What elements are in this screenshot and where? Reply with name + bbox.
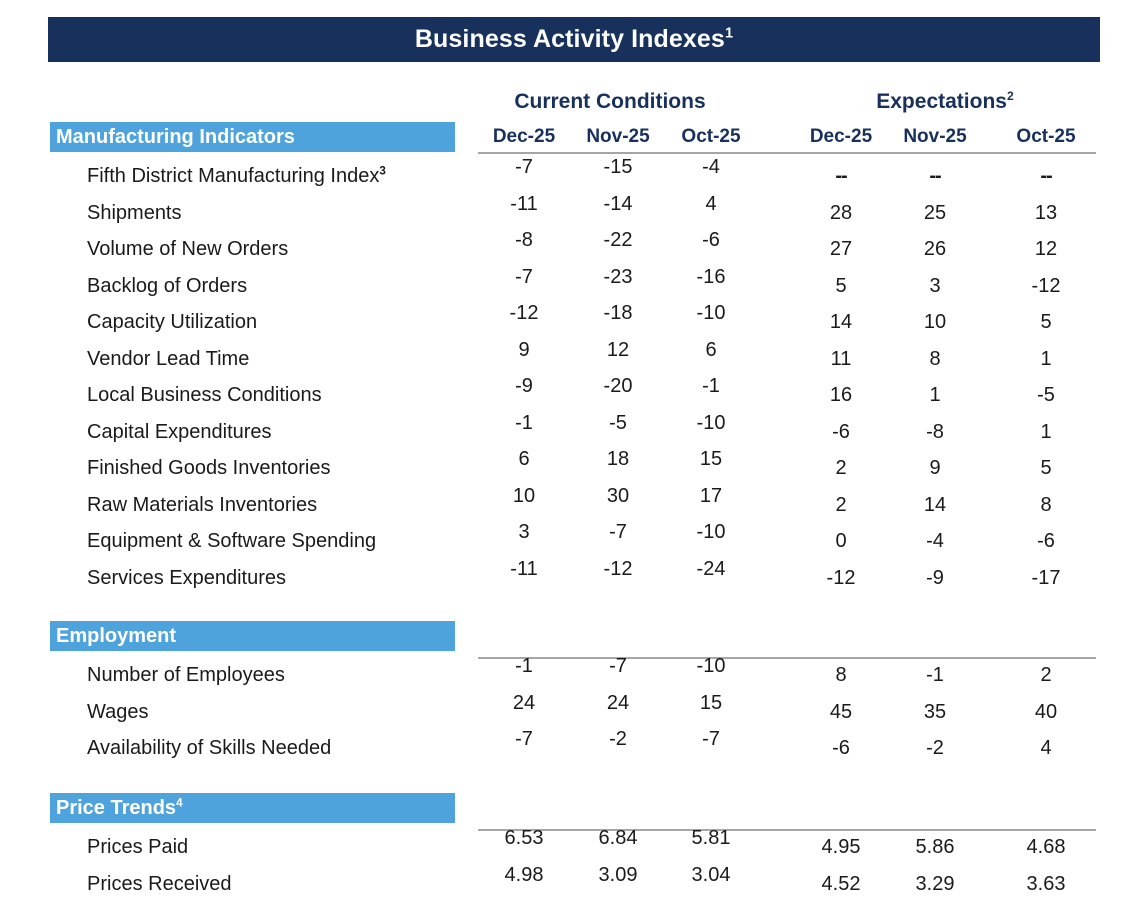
table-cell: 2 [795, 450, 887, 486]
row-label-text: Equipment & Software Spending [87, 530, 376, 552]
no-data-dash: -- [835, 165, 846, 187]
table-cell: -24 [665, 551, 757, 587]
table-cell: 5 [1000, 450, 1092, 486]
table-cell: 6.84 [572, 820, 664, 856]
row-label: Capital Expenditures [87, 414, 272, 450]
row-label: Backlog of Orders [87, 268, 247, 304]
row-label: Finished Goods Inventories [87, 450, 330, 486]
table-cell: 28 [795, 195, 887, 231]
table-cell: 8 [795, 657, 887, 693]
table-cell: 4.68 [1000, 829, 1092, 865]
report-page: Business Activity Indexes1 Current Condi… [0, 0, 1144, 918]
table-cell: 35 [889, 694, 981, 730]
table-cell: 2 [795, 487, 887, 523]
table-cell: -- [795, 158, 887, 194]
table-row: Services Expenditures-11-12-24-12-9-17 [0, 560, 1144, 596]
table-cell: 8 [889, 341, 981, 377]
row-label-text: Finished Goods Inventories [87, 457, 330, 479]
table-cell: -7 [665, 721, 757, 757]
table-cell: -7 [478, 259, 570, 295]
row-label: Availability of Skills Needed [87, 730, 331, 766]
table-cell: 10 [889, 304, 981, 340]
table-cell: -11 [478, 551, 570, 587]
row-label-text: Backlog of Orders [87, 275, 247, 297]
table-cell: -- [889, 158, 981, 194]
page-title: Business Activity Indexes1 [415, 25, 733, 54]
table-cell: -10 [665, 648, 757, 684]
table-cell: 4.98 [478, 857, 570, 893]
table-cell: 4.52 [795, 866, 887, 902]
row-label-text: Availability of Skills Needed [87, 737, 331, 759]
group-header-expectations-label: Expectations [876, 90, 1007, 113]
table-cell: -8 [889, 414, 981, 450]
table-cell: 3.04 [665, 857, 757, 893]
section-label-manufacturing-indicators: Manufacturing Indicators [50, 126, 295, 149]
section-bar-price-trends: Price Trends4 [50, 793, 455, 823]
table-cell: -10 [665, 514, 757, 550]
column-header-expect-nov: Nov-25 [889, 126, 981, 148]
table-cell: -12 [795, 560, 887, 596]
column-header-expect-dec: Dec-25 [795, 126, 887, 148]
table-cell: -22 [572, 222, 664, 258]
table-cell: 4.95 [795, 829, 887, 865]
row-label-text: Prices Received [87, 873, 232, 895]
row-label-text: Raw Materials Inventories [87, 494, 317, 516]
table-cell: -6 [1000, 523, 1092, 559]
table-cell: 0 [795, 523, 887, 559]
table-cell: -1 [889, 657, 981, 693]
row-label-text: Volume of New Orders [87, 238, 288, 260]
table-cell: 5 [1000, 304, 1092, 340]
table-cell: 2 [1000, 657, 1092, 693]
table-cell: 8 [1000, 487, 1092, 523]
table-cell: -20 [572, 368, 664, 404]
row-label-text: Capacity Utilization [87, 311, 257, 333]
row-label: Number of Employees [87, 657, 285, 693]
table-cell: -12 [572, 551, 664, 587]
no-data-dash: -- [929, 165, 940, 187]
row-label: Services Expenditures [87, 560, 286, 596]
table-cell: -5 [1000, 377, 1092, 413]
table-cell: 1 [1000, 341, 1092, 377]
table-row: Prices Received4.983.093.044.523.293.63 [0, 866, 1144, 902]
table-cell: 14 [795, 304, 887, 340]
section-title-manufacturing: Manufacturing Indicators [56, 126, 295, 148]
table-cell: -2 [572, 721, 664, 757]
table-cell: 16 [795, 377, 887, 413]
table-cell: -4 [889, 523, 981, 559]
title-banner: Business Activity Indexes1 [48, 17, 1100, 62]
section-title-price-trends: Price Trends [56, 797, 176, 819]
table-cell: 6 [665, 332, 757, 368]
page-title-text: Business Activity Indexes [415, 25, 725, 53]
table-cell: -12 [478, 295, 570, 331]
table-cell: 30 [572, 478, 664, 514]
table-cell: 11 [795, 341, 887, 377]
table-cell: 3 [478, 514, 570, 550]
column-header-current-nov: Nov-25 [572, 126, 664, 148]
table-cell: 12 [572, 332, 664, 368]
row-label: Volume of New Orders [87, 231, 288, 267]
table-cell: -7 [478, 149, 570, 185]
table-cell: 3 [889, 268, 981, 304]
table-cell: 18 [572, 441, 664, 477]
table-cell: -6 [795, 414, 887, 450]
column-header-current-dec: Dec-25 [478, 126, 570, 148]
table-cell: -- [1000, 158, 1092, 194]
table-cell: -9 [889, 560, 981, 596]
row-label-text: Shipments [87, 202, 182, 224]
section-footnote-price-trends: 4 [176, 796, 182, 809]
table-cell: 5.86 [889, 829, 981, 865]
table-cell: 24 [572, 685, 664, 721]
row-label-text: Services Expenditures [87, 567, 286, 589]
table-row: Availability of Skills Needed-7-2-7-6-24 [0, 730, 1144, 766]
table-cell: -12 [1000, 268, 1092, 304]
table-cell: -8 [478, 222, 570, 258]
table-cell: 40 [1000, 694, 1092, 730]
row-label-text: Vendor Lead Time [87, 348, 249, 370]
table-cell: -11 [478, 186, 570, 222]
group-header-current-conditions: Current Conditions [478, 90, 742, 114]
table-cell: 17 [665, 478, 757, 514]
table-cell: -6 [665, 222, 757, 258]
table-cell: -15 [572, 149, 664, 185]
group-header-expectations-footnote: 2 [1007, 89, 1014, 103]
table-cell: 4 [1000, 730, 1092, 766]
table-cell: 10 [478, 478, 570, 514]
table-cell: -6 [795, 730, 887, 766]
table-cell: 4 [665, 186, 757, 222]
table-cell: 5.81 [665, 820, 757, 856]
table-cell: 6.53 [478, 820, 570, 856]
row-label-text: Fifth District Manufacturing Index [87, 165, 379, 187]
row-label-text: Local Business Conditions [87, 384, 322, 406]
table-cell: -23 [572, 259, 664, 295]
section-label-employment: Employment [50, 625, 176, 648]
table-cell: -17 [1000, 560, 1092, 596]
table-cell: 13 [1000, 195, 1092, 231]
section-bar-employment: Employment [50, 621, 455, 651]
table-cell: -9 [478, 368, 570, 404]
table-cell: 9 [478, 332, 570, 368]
table-cell: -14 [572, 186, 664, 222]
row-label: Shipments [87, 195, 182, 231]
section-title-employment: Employment [56, 625, 176, 647]
table-cell: 12 [1000, 231, 1092, 267]
table-cell: -7 [572, 514, 664, 550]
table-cell: -4 [665, 149, 757, 185]
table-cell: 5 [795, 268, 887, 304]
section-label-price-trends: Price Trends4 [50, 797, 183, 820]
table-cell: -18 [572, 295, 664, 331]
section-bar-manufacturing-indicators: Manufacturing Indicators [50, 122, 455, 152]
table-cell: 26 [889, 231, 981, 267]
row-label: Prices Paid [87, 829, 188, 865]
table-cell: -10 [665, 405, 757, 441]
row-label-text: Number of Employees [87, 664, 285, 686]
table-cell: 27 [795, 231, 887, 267]
row-label: Equipment & Software Spending [87, 523, 376, 559]
table-cell: 9 [889, 450, 981, 486]
table-cell: 15 [665, 441, 757, 477]
table-cell: -10 [665, 295, 757, 331]
row-label-text: Prices Paid [87, 836, 188, 858]
page-title-footnote: 1 [725, 26, 733, 42]
table-cell: 15 [665, 685, 757, 721]
no-data-dash: -- [1040, 165, 1051, 187]
table-cell: -16 [665, 259, 757, 295]
row-label: Wages [87, 694, 149, 730]
row-label: Raw Materials Inventories [87, 487, 317, 523]
table-cell: -1 [665, 368, 757, 404]
row-label: Prices Received [87, 866, 232, 902]
header-divider-rule [478, 152, 1096, 154]
table-cell: -1 [478, 648, 570, 684]
table-cell: 25 [889, 195, 981, 231]
row-label: Vendor Lead Time [87, 341, 249, 377]
table-cell: -1 [478, 405, 570, 441]
row-label: Fifth District Manufacturing Index3 [87, 158, 386, 194]
table-cell: -5 [572, 405, 664, 441]
table-cell: 3.09 [572, 857, 664, 893]
row-label-text: Capital Expenditures [87, 421, 272, 443]
table-cell: 1 [889, 377, 981, 413]
row-label-text: Wages [87, 701, 149, 723]
table-cell: 45 [795, 694, 887, 730]
column-header-expect-oct: Oct-25 [1000, 126, 1092, 148]
group-header-expectations: Expectations2 [790, 90, 1100, 114]
table-cell: 3.63 [1000, 866, 1092, 902]
table-cell: 3.29 [889, 866, 981, 902]
row-label-footnote: 3 [379, 164, 385, 177]
group-header-current-conditions-label: Current Conditions [514, 90, 705, 113]
table-cell: -7 [478, 721, 570, 757]
row-label: Capacity Utilization [87, 304, 257, 340]
table-cell: 24 [478, 685, 570, 721]
table-cell: 14 [889, 487, 981, 523]
table-cell: -2 [889, 730, 981, 766]
row-label: Local Business Conditions [87, 377, 322, 413]
table-cell: 1 [1000, 414, 1092, 450]
column-header-current-oct: Oct-25 [665, 126, 757, 148]
table-cell: 6 [478, 441, 570, 477]
table-cell: -7 [572, 648, 664, 684]
